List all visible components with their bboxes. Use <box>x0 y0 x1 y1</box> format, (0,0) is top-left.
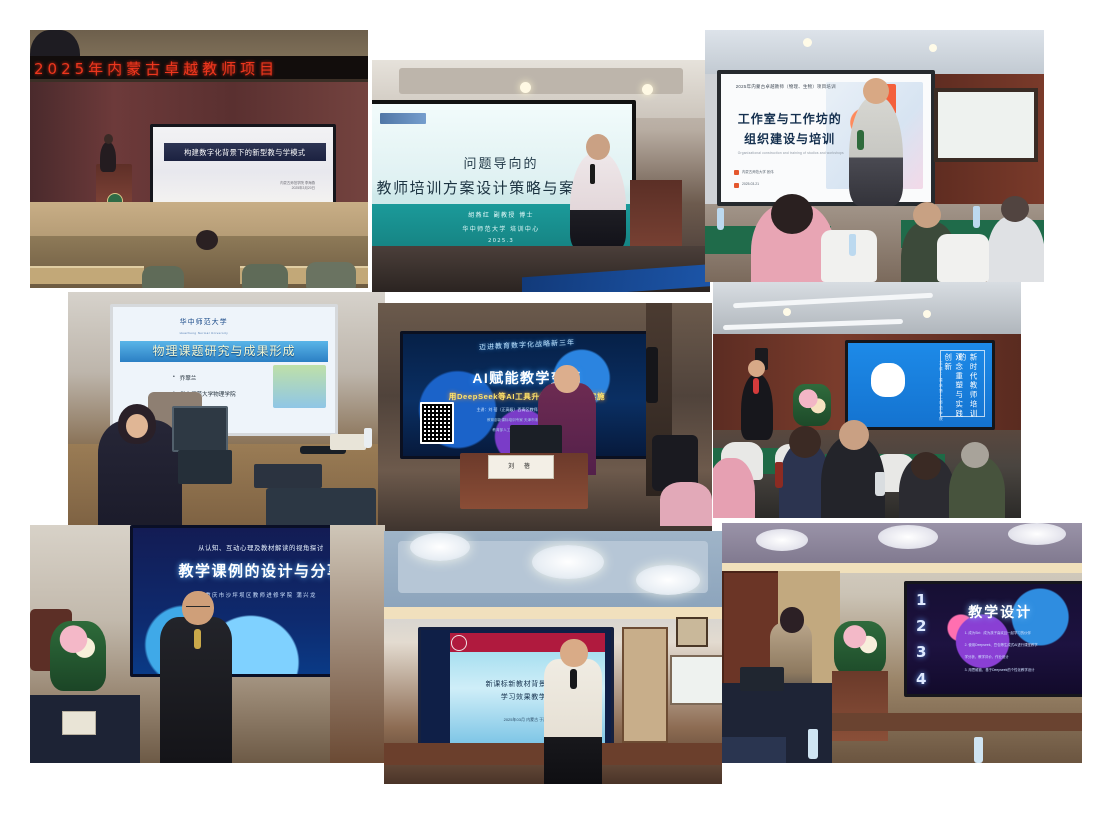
lecture-hall: 迈进教育数字化战略新三年 AI赋能教学变革 用DeepSeek等AI工具升级教学… <box>378 303 712 536</box>
speaker-body <box>570 152 626 252</box>
water-bottle <box>974 737 983 763</box>
slide-title: 物理课题研究与成果形成 <box>120 342 329 359</box>
water-bottle <box>808 729 818 759</box>
audience-desk <box>30 266 144 284</box>
photo-collage: 2025年内蒙古卓越教师项目 构建数字化背景下的新型教与学模式 内蒙古师范学院 … <box>0 0 1104 816</box>
water-bottle <box>973 206 980 228</box>
laptop <box>510 425 562 455</box>
attendee-head <box>196 230 218 250</box>
flower-arrangement <box>834 621 886 677</box>
photo-instructional-design[interactable]: 1 2 3 4 教学设计 1. 成为Siri：成为孩子喜欢且一起学习的伙伴 2.… <box>722 523 1082 763</box>
university-logo-icon <box>380 113 426 124</box>
attendee-body <box>713 458 755 518</box>
bullet-dot-icon <box>734 170 739 175</box>
speaker-head <box>554 365 580 393</box>
chair-back <box>306 262 356 288</box>
photo-concept-reshaping[interactable]: 新时代教师培训的 观念重塑与实践创新 主讲：重庆第二师范学院 <box>713 282 1021 518</box>
photo-physics-research[interactable]: 华中师范大学 Huazhong Normal University 物理课题研究… <box>68 292 385 530</box>
slide-line1: 1. 成为Siri：成为孩子喜欢且一起学习的伙伴 <box>965 630 1082 635</box>
slide-emblem-icon <box>451 635 467 651</box>
qr-code-icon <box>420 402 454 444</box>
bullet-dot-icon <box>734 183 739 188</box>
slide-emblem-icon <box>871 363 905 397</box>
microphone-icon <box>590 164 595 184</box>
bullet-dot-icon: • <box>173 374 175 380</box>
slide-title: AI赋能教学变革 <box>403 368 651 388</box>
attendee-head <box>1001 196 1029 222</box>
slide-line3: 学分析、教学评价、作业设计 <box>965 654 1082 659</box>
attendee-head <box>961 442 989 468</box>
lecture-room: 问题导向的 教师培训方案设计策略与案例分析 胡燕红 副教授 博士 华中师范大学 … <box>372 60 710 292</box>
flower-arrangement <box>50 621 106 691</box>
ceiling-light <box>783 308 791 316</box>
stage-platform <box>832 713 1082 731</box>
monitor <box>178 450 232 484</box>
photo-lesson-case[interactable]: 从认知、互动心理及教材解读的视角探讨 教学课例的设计与分享 重庆市沙坪坝区教师进… <box>30 525 385 763</box>
ceiling-lamp <box>1008 523 1066 545</box>
ceiling-lamp <box>410 533 470 561</box>
slide-bullet1: 乔翠兰 <box>180 374 197 382</box>
training-room: 新时代教师培训的 观念重塑与实践创新 主讲：重庆第二师范学院 <box>713 282 1021 518</box>
slide-background <box>907 584 1082 694</box>
chair-back <box>937 234 989 282</box>
university-logo: 华中师范大学 <box>180 317 228 327</box>
training-room: 2025年内蒙古卓越教师（物理、生物）项目培训 工作室与工作坊的 组织建设与培训… <box>705 30 1044 282</box>
slide-title-line1: 工作室与工作坊的 <box>738 110 842 127</box>
ceiling-light <box>520 82 531 93</box>
monitor <box>254 464 322 488</box>
slide-image <box>273 365 326 408</box>
lectern <box>630 180 682 254</box>
slide-footer: 内蒙古师范学院 李海燕 2025年3月20日 <box>280 181 315 191</box>
projection-screen: 构建数字化背景下的新型教与学模式 内蒙古师范学院 李海燕 2025年3月20日 <box>150 124 336 212</box>
slide-line4: 3. 用思维链、基于Deepseek的个性化教学设计 <box>965 667 1082 672</box>
nameplate <box>62 711 96 735</box>
chair-back <box>142 266 184 288</box>
flower-arrangement <box>793 384 831 426</box>
auditorium-room: 2025年内蒙古卓越教师项目 构建数字化背景下的新型教与学模式 内蒙古师范学院 … <box>30 30 368 288</box>
photo-problem-oriented[interactable]: 问题导向的 教师培训方案设计策略与案例分析 胡燕红 副教授 博士 华中师范大学 … <box>372 60 710 292</box>
led-screen: 1 2 3 4 教学设计 1. 成为Siri：成为孩子喜欢且一起学习的伙伴 2.… <box>904 581 1082 697</box>
thermos <box>775 462 783 488</box>
ceiling-lamp <box>878 525 938 549</box>
attendee-body <box>987 216 1044 282</box>
speaker-body <box>849 96 903 206</box>
attendee-head <box>771 194 813 234</box>
whiteboard <box>934 88 1038 162</box>
speaker-head <box>586 134 610 160</box>
ceiling-lamp <box>636 565 700 595</box>
seminar-room: 从认知、互动心理及教材解读的视角探讨 教学课例的设计与分享 重庆市沙坪坝区教师进… <box>30 525 385 763</box>
water-bottle <box>875 472 885 496</box>
ceiling <box>705 30 1044 74</box>
presenter-face <box>126 414 148 438</box>
microphone-icon <box>753 378 759 394</box>
speaker-head <box>780 607 804 633</box>
speaker-head <box>863 78 889 104</box>
photo-auditorium-opening[interactable]: 2025年内蒙古卓越教师项目 构建数字化背景下的新型教与学模式 内蒙古师范学院 … <box>30 30 368 288</box>
slide-bullet2: 2025.03.21 <box>742 182 759 186</box>
slide-number-3: 3 <box>916 643 926 661</box>
laptop <box>172 406 228 452</box>
speaker-head <box>748 360 765 377</box>
side-wall <box>330 525 385 763</box>
table-monitor <box>266 488 376 530</box>
ceiling-light <box>642 84 653 95</box>
whiteboard <box>670 655 722 705</box>
slide-vertical-line2: 观念重塑与实践创新 <box>943 353 965 427</box>
laptop <box>740 667 784 691</box>
wall-speaker-icon <box>646 347 658 403</box>
wall-picture <box>676 617 708 647</box>
water-bottle <box>364 428 372 448</box>
ceiling-lamp <box>756 529 808 551</box>
water-bottle <box>717 208 724 230</box>
ceiling-lamp <box>532 545 604 579</box>
slide-subtitle-en: Organizational construction and training… <box>738 151 844 155</box>
conference-room: 1 2 3 4 教学设计 1. 成为Siri：成为孩子喜欢且一起学习的伙伴 2.… <box>722 523 1082 763</box>
attendee-head <box>839 420 869 450</box>
slide-line2: 2. 使用Deepseek、豆包等生成式AI进行课堂教学 <box>965 642 1082 647</box>
conference-room: 新课标新教材背景下提高 学习效果教学吧 2025年03月 内蒙古 于建军 <box>384 531 722 784</box>
microphone-icon <box>857 130 864 150</box>
slide-title-line2: 组织建设与培训 <box>744 130 835 147</box>
ceiling-light <box>923 310 931 318</box>
slide-subtitle: 用DeepSeek等AI工具升级教学设计与实施 <box>403 391 651 402</box>
chair-back <box>242 264 288 288</box>
slide-presenter: 主讲：重庆第二师范学院 <box>939 361 944 423</box>
photo-new-curriculum[interactable]: 新课标新教材背景下提高 学习效果教学吧 2025年03月 内蒙古 于建军 <box>384 531 722 784</box>
front-table <box>722 737 786 763</box>
attendee-head <box>789 426 821 458</box>
slide-footer-line2: 2025年3月20日 <box>292 186 315 190</box>
slide-title: 教学设计 <box>968 602 1032 622</box>
ceiling-light <box>929 44 937 52</box>
notepad <box>330 434 366 450</box>
slide-number-4: 4 <box>916 670 926 688</box>
water-bottle <box>849 234 856 256</box>
logo-text-en: Huazhong Normal University <box>180 331 229 335</box>
ceiling-light <box>803 38 812 47</box>
speaker-body <box>100 142 116 172</box>
ceiling-coffer <box>399 68 683 94</box>
door <box>622 627 668 743</box>
glasses-icon <box>186 601 210 607</box>
speaker-head <box>560 639 588 667</box>
slide-title: 构建数字化背景下的新型教与学模式 <box>164 144 326 160</box>
photo-ai-teaching[interactable]: 迈进教育数字化战略新三年 AI赋能教学变革 用DeepSeek等AI工具升级教学… <box>378 303 712 536</box>
slide-bullet1: 内蒙古师范大学 张伟 <box>742 169 773 174</box>
speaker-head <box>182 591 214 625</box>
photo-studio-workshop[interactable]: 2025年内蒙古卓越教师（物理、生物）项目培训 工作室与工作坊的 组织建设与培训… <box>705 30 1044 282</box>
meeting-room: 华中师范大学 Huazhong Normal University 物理课题研究… <box>68 292 385 530</box>
led-banner-text: 2025年内蒙古卓越教师项目 <box>34 58 364 80</box>
slide-surface: 构建数字化背景下的新型教与学模式 内蒙古师范学院 李海燕 2025年3月20日 <box>153 127 333 209</box>
attendee-head <box>913 202 941 228</box>
speaker-head <box>104 134 113 144</box>
microphone-icon <box>570 669 577 689</box>
nameplate: 刘 蓓 <box>488 455 554 479</box>
slide-number-1: 1 <box>916 591 926 609</box>
microphone-icon <box>194 629 201 649</box>
slide-surface: 新时代教师培训的 观念重塑与实践创新 主讲：重庆第二师范学院 <box>848 343 992 427</box>
slide-number-2: 2 <box>916 617 926 635</box>
slide-header: 2025年内蒙古卓越教师（物理、生物）项目培训 <box>736 84 836 90</box>
logo-text: 华中师范大学 <box>180 319 228 326</box>
attendee-head <box>911 452 941 480</box>
led-screen: 新时代教师培训的 观念重塑与实践创新 主讲：重庆第二师范学院 <box>845 340 995 430</box>
cove-lighting <box>384 607 722 619</box>
attendee-body <box>660 482 712 526</box>
slide-footer-line1: 内蒙古师范学院 李海燕 <box>280 181 315 185</box>
